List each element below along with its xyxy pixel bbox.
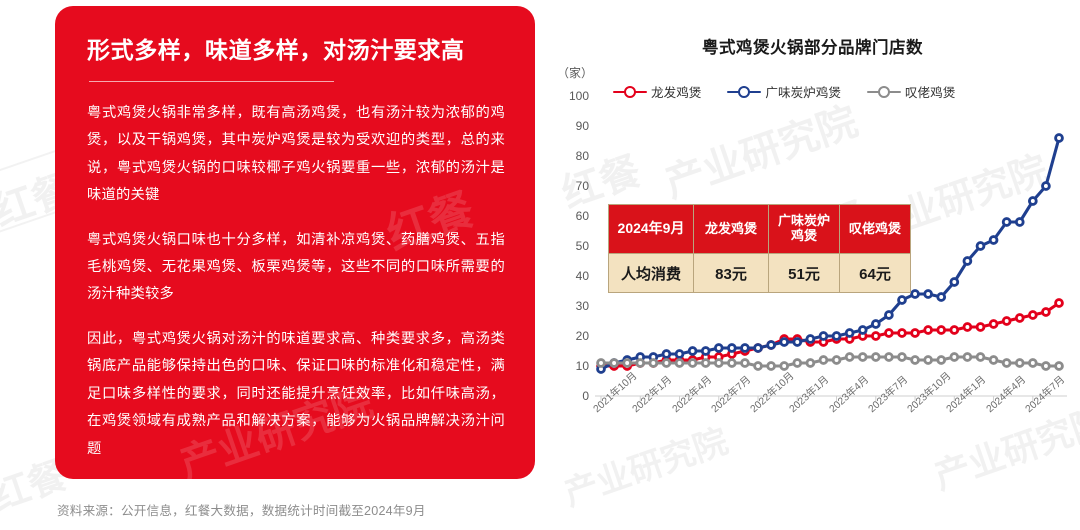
data-point-marker: [977, 354, 984, 361]
data-point-marker: [964, 324, 971, 331]
data-point-marker: [872, 333, 879, 340]
per-capita-table: 2024年9月 龙发鸡煲 广味炭炉鸡煲 叹佬鸡煲 人均消费 83元 51元 64…: [608, 204, 911, 293]
data-point-marker: [1003, 318, 1010, 325]
table-header-brand-2: 广味炭炉鸡煲: [769, 205, 840, 254]
data-point-marker: [912, 330, 919, 337]
table-row: 人均消费 83元 51元 64元: [609, 254, 911, 293]
data-point-marker: [1016, 360, 1023, 367]
data-point-marker: [951, 327, 958, 334]
y-tick-label: 50: [576, 239, 589, 253]
data-point-marker: [1029, 198, 1036, 205]
data-point-marker: [650, 360, 657, 367]
data-point-marker: [846, 354, 853, 361]
y-tick-label: 100: [569, 89, 589, 103]
data-point-marker: [885, 354, 892, 361]
data-point-marker: [1056, 300, 1063, 307]
data-point-marker: [689, 348, 696, 355]
insight-card: 红餐 产业研究院 形式多样，味道多样，对汤汁要求高 粤式鸡煲火锅非常多样，既有高…: [55, 6, 535, 479]
data-point-marker: [1003, 219, 1010, 226]
data-point-marker: [912, 357, 919, 364]
data-point-marker: [951, 354, 958, 361]
chart-title: 粤式鸡煲火锅部分品牌门店数: [545, 34, 1080, 58]
card-title: 形式多样，味道多样，对汤汁要求高: [87, 36, 505, 65]
y-tick-label: 60: [576, 209, 589, 223]
data-point-marker: [977, 324, 984, 331]
table-header-row: 2024年9月 龙发鸡煲 广味炭炉鸡煲 叹佬鸡煲: [609, 205, 911, 254]
data-point-marker: [807, 336, 814, 343]
data-point-marker: [964, 354, 971, 361]
data-point-marker: [728, 345, 735, 352]
data-point-marker: [964, 258, 971, 265]
data-point-marker: [925, 291, 932, 298]
data-point-marker: [794, 339, 801, 346]
data-point-marker: [598, 360, 605, 367]
data-point-marker: [689, 360, 696, 367]
data-point-marker: [885, 312, 892, 319]
data-point-marker: [938, 357, 945, 364]
data-point-marker: [820, 333, 827, 340]
table-cell-value-1: 83元: [694, 254, 769, 293]
data-point-marker: [1043, 183, 1050, 190]
data-point-marker: [899, 354, 906, 361]
table-row-label: 人均消费: [609, 254, 694, 293]
x-axis-labels: 2021年10月2022年1月2022年4月2022年7月2022年10月202…: [595, 404, 1080, 484]
table-cell-value-3: 64元: [840, 254, 911, 293]
data-point-marker: [1016, 219, 1023, 226]
data-point-marker: [1043, 363, 1050, 370]
data-point-marker: [912, 291, 919, 298]
y-tick-label: 10: [576, 359, 589, 373]
data-point-marker: [1043, 309, 1050, 316]
data-point-marker: [663, 351, 670, 358]
data-point-marker: [872, 354, 879, 361]
data-point-marker: [702, 360, 709, 367]
table-header-brand-1: 龙发鸡煲: [694, 205, 769, 254]
y-tick-label: 0: [582, 389, 589, 403]
table-header-brand-3: 叹佬鸡煲: [840, 205, 911, 254]
data-point-marker: [990, 357, 997, 364]
data-point-marker: [611, 360, 618, 367]
y-tick-label: 30: [576, 299, 589, 313]
card-paragraph-3: 因此，粤式鸡煲火锅对汤汁的味道要求高、种类要求多，高汤类锅底产品能够保持出色的口…: [87, 326, 505, 463]
y-tick-label: 70: [576, 179, 589, 193]
data-point-marker: [925, 357, 932, 364]
card-paragraph-2: 粤式鸡煲火锅口味也十分多样，如清补凉鸡煲、药膳鸡煲、五指毛桃鸡煲、无花果鸡煲、板…: [87, 227, 505, 309]
data-point-marker: [807, 360, 814, 367]
data-point-marker: [715, 360, 722, 367]
data-point-marker: [1056, 135, 1063, 142]
data-point-marker: [859, 327, 866, 334]
data-point-marker: [637, 360, 644, 367]
data-point-marker: [742, 360, 749, 367]
data-point-marker: [833, 357, 840, 364]
data-point-marker: [1029, 360, 1036, 367]
source-note: 资料来源：公开信息，红餐大数据，数据统计时间截至2024年9月: [57, 500, 426, 519]
data-point-marker: [1003, 360, 1010, 367]
table-header-period: 2024年9月: [609, 205, 694, 254]
data-point-marker: [781, 339, 788, 346]
data-point-marker: [885, 330, 892, 337]
data-point-marker: [676, 351, 683, 358]
data-point-marker: [1016, 315, 1023, 322]
data-point-marker: [768, 363, 775, 370]
data-point-marker: [794, 360, 801, 367]
data-point-marker: [938, 294, 945, 301]
data-point-marker: [768, 342, 775, 349]
y-tick-label: 90: [576, 119, 589, 133]
y-tick-label: 40: [576, 269, 589, 283]
data-point-marker: [742, 345, 749, 352]
data-point-marker: [820, 357, 827, 364]
data-point-marker: [990, 237, 997, 244]
data-point-marker: [925, 327, 932, 334]
data-point-marker: [755, 363, 762, 370]
data-point-marker: [951, 279, 958, 286]
data-point-marker: [899, 297, 906, 304]
data-point-marker: [833, 333, 840, 340]
data-point-marker: [624, 360, 631, 367]
y-tick-label: 80: [576, 149, 589, 163]
data-point-marker: [702, 348, 709, 355]
data-point-marker: [990, 321, 997, 328]
data-point-marker: [755, 345, 762, 352]
data-point-marker: [1056, 363, 1063, 370]
data-point-marker: [846, 330, 853, 337]
data-point-marker: [977, 243, 984, 250]
data-point-marker: [728, 360, 735, 367]
data-point-marker: [676, 360, 683, 367]
title-divider: [89, 81, 334, 82]
data-point-marker: [663, 360, 670, 367]
data-point-marker: [715, 345, 722, 352]
y-axis-unit-label: （家）: [557, 64, 593, 81]
data-point-marker: [859, 354, 866, 361]
card-paragraph-1: 粤式鸡煲火锅非常多样，既有高汤鸡煲，也有汤汁较为浓郁的鸡煲，以及干锅鸡煲，其中炭…: [87, 100, 505, 210]
data-point-marker: [1029, 312, 1036, 319]
y-axis-labels: 0102030405060708090100: [557, 96, 593, 396]
y-tick-label: 20: [576, 329, 589, 343]
data-point-marker: [872, 321, 879, 328]
chart-panel: 粤式鸡煲火锅部分品牌门店数 （家） 龙发鸡煲广味炭炉鸡煲叹佬鸡煲 0102030…: [545, 0, 1080, 530]
table-cell-value-2: 51元: [769, 254, 840, 293]
data-point-marker: [899, 330, 906, 337]
data-point-marker: [938, 327, 945, 334]
